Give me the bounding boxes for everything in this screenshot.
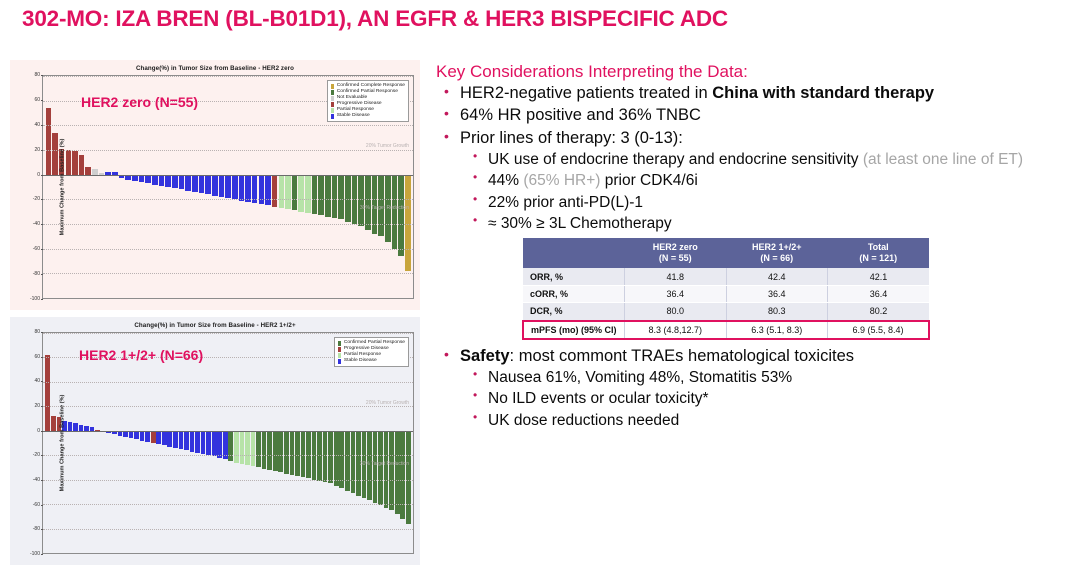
bar-rect — [185, 175, 191, 191]
column-header-line2: (N = 55) — [627, 253, 725, 264]
bar-rect — [217, 431, 222, 458]
gridline — [43, 298, 413, 299]
bar-rect — [389, 431, 394, 510]
waterfall-bar — [52, 76, 59, 298]
column-header-line1: HER2 zero — [627, 242, 725, 253]
legend-label: Partial Response — [344, 352, 381, 358]
chart-her2-low: Change(%) in Tumor Size from Baseline - … — [10, 317, 420, 565]
legend-label: Stable Disease — [344, 358, 377, 364]
gridline — [43, 199, 413, 200]
bar-rect — [405, 175, 411, 271]
table-row: DCR, %80.080.380.2 — [523, 303, 929, 321]
column-header-line1: Total — [830, 242, 928, 253]
column-header-line2: (N = 121) — [830, 253, 928, 264]
bar-rect — [232, 175, 238, 200]
legend-swatch-icon — [338, 347, 341, 353]
waterfall-bar — [291, 76, 298, 298]
bar-rect — [345, 431, 350, 491]
chart-legend: Confirmed Complete ResponseConfirmed Par… — [327, 80, 409, 122]
plot-area-her2-zero: 20% Tumor Growth30% Target Reduction Con… — [42, 75, 414, 299]
table-column-header: HER2 1+/2+(N = 66) — [726, 238, 828, 269]
page-title: 302-MO: IZA BREN (BL-B01D1), AN EGFR & H… — [22, 6, 1062, 32]
legend-swatch-icon — [331, 90, 334, 96]
legend-swatch-icon — [331, 96, 334, 102]
table-cell: 41.8 — [625, 268, 727, 285]
plot-frame: 20% Tumor Growth30% Target Reduction Con… — [42, 75, 414, 299]
bullet-list-bottom: Safety: most commont TRAEs hematological… — [436, 346, 1076, 431]
plot-area-her2-low: 20% Tumor Growth30% Target Reduction Con… — [42, 332, 414, 554]
chart-overlay-label: HER2 zero (N=55) — [81, 94, 198, 110]
bullet-list-top: HER2-negative patients treated in China … — [436, 83, 1076, 234]
table-cell: 80.3 — [726, 303, 828, 321]
waterfall-bar — [225, 76, 232, 298]
bar-rect — [51, 416, 56, 431]
column-header-line2: (N = 66) — [728, 253, 826, 264]
bar-rect — [179, 431, 184, 449]
bar-rect — [279, 175, 285, 208]
legend-swatch-icon — [338, 353, 341, 359]
chart-her2-zero: Change(%) in Tumor Size from Baseline - … — [10, 60, 420, 310]
bar-rect — [199, 175, 205, 193]
bar-rect — [312, 175, 318, 214]
bar-rect — [334, 431, 339, 486]
waterfall-bar — [218, 76, 225, 298]
gridline — [43, 504, 413, 505]
waterfall-bar — [265, 76, 272, 298]
waterfall-bar — [271, 76, 278, 298]
bar-rect — [345, 175, 351, 222]
legend-label: Progressive Disease — [344, 346, 389, 352]
y-axis-tick: -40 — [33, 477, 40, 483]
y-axis-tick: 80 — [34, 329, 40, 335]
bar-rect — [292, 175, 298, 211]
y-axis-tick: 60 — [34, 97, 40, 103]
bar-rect — [134, 431, 139, 440]
y-axis-label: Maximum Change from Baseline (%) — [59, 139, 65, 236]
waterfall-bar — [318, 76, 325, 298]
table-header-row: HER2 zero(N = 55)HER2 1+/2+(N = 66)Total… — [523, 238, 929, 269]
chart-legend: Confirmed Partial ResponseProgressive Di… — [334, 337, 409, 367]
bar-rect — [245, 431, 250, 465]
waterfall-bar — [198, 76, 205, 298]
bullet-text: Nausea 61%, Vomiting 48%, Stomatitis 53% — [488, 369, 792, 386]
bullet-text: (at least one line of ET) — [863, 151, 1023, 168]
y-axis-tick: 40 — [34, 122, 40, 128]
bar-rect — [272, 175, 278, 207]
bar-rect — [278, 431, 283, 473]
bar-rect — [190, 431, 195, 452]
legend-swatch-icon — [331, 102, 334, 108]
legend-label: Stable Disease — [337, 113, 370, 119]
bar-rect — [79, 155, 85, 175]
table-cell: 36.4 — [828, 285, 930, 302]
waterfall-bar — [251, 76, 258, 298]
table-cell: 80.0 — [625, 303, 727, 321]
bar-rect — [267, 431, 272, 470]
legend-label: Confirmed Partial Response — [337, 89, 398, 95]
y-axis-tick: -80 — [33, 271, 40, 277]
y-axis-tick: -60 — [33, 502, 40, 508]
bar-rect — [68, 422, 73, 431]
legend-swatch-icon — [331, 108, 334, 114]
table-body: ORR, %41.842.442.1cORR, %36.436.436.4DCR… — [523, 268, 929, 339]
key-considerations-heading: Key Considerations Interpreting the Data… — [436, 62, 1076, 82]
chart-title: Change(%) in Tumor Size from Baseline - … — [10, 60, 420, 72]
bullet-item: HER2-negative patients treated in China … — [436, 83, 1076, 104]
bullet-text: UK dose reductions needed — [488, 412, 679, 429]
bar-rect — [323, 431, 328, 482]
bullet-item: 64% HR positive and 36% TNBC — [436, 105, 1076, 126]
waterfall-bar — [205, 76, 212, 298]
gridline — [43, 382, 413, 383]
bar-rect — [159, 175, 165, 186]
table-row-label: cORR, % — [523, 285, 625, 302]
bar-rect — [406, 431, 411, 524]
bar-rect — [172, 175, 178, 189]
bar-rect — [358, 175, 364, 227]
y-axis-label: Maximum Change from Baseline (%) — [59, 395, 65, 492]
bar-rect — [66, 150, 72, 175]
bar-rect — [338, 175, 344, 219]
table-cell: 36.4 — [625, 285, 727, 302]
chart-title: Change(%) in Tumor Size from Baseline - … — [10, 317, 420, 329]
bar-rect — [52, 133, 58, 175]
gridline — [43, 406, 413, 407]
bar-rect — [256, 431, 261, 468]
legend-label: Partial Response — [337, 107, 374, 113]
bar-rect — [384, 431, 389, 508]
legend-label: Progressive Disease — [337, 101, 382, 107]
waterfall-bar — [45, 76, 52, 298]
y-axis-tick: 60 — [34, 354, 40, 360]
chart-annotation: 30% Target Reduction — [360, 205, 409, 211]
bar-rect — [139, 175, 145, 182]
y-axis-tick: 0 — [37, 172, 40, 178]
bar-rect — [206, 431, 211, 455]
bullet-item: Safety: most commont TRAEs hematological… — [436, 346, 1076, 367]
y-axis-tick: -40 — [33, 221, 40, 227]
y-axis-tick: -20 — [33, 196, 40, 202]
bar-rect — [184, 431, 189, 451]
bar-rect — [205, 175, 211, 195]
gridline — [43, 480, 413, 481]
legend-entry: Stable Disease — [338, 358, 405, 364]
bar-rect — [162, 431, 167, 446]
table-row: mPFS (mo) (95% CI)8.3 (4.8,12.7)6.3 (5.1… — [523, 321, 929, 339]
y-axis-tick: 0 — [37, 428, 40, 434]
bar-rect — [400, 431, 405, 519]
waterfall-bar — [72, 76, 79, 298]
waterfall-bar — [298, 76, 305, 298]
legend-label: Confirmed Complete Response — [337, 83, 405, 89]
bar-rect — [167, 431, 172, 447]
waterfall-bar — [65, 76, 72, 298]
gridline — [43, 76, 413, 77]
gridline — [43, 224, 413, 225]
bar-rect — [325, 175, 331, 217]
bar-rect — [85, 167, 91, 174]
bar-rect — [173, 431, 178, 448]
bar-rect — [301, 431, 306, 477]
legend-label: Confirmed Partial Response — [344, 340, 405, 346]
bar-rect — [328, 431, 333, 484]
bar-rect — [262, 431, 267, 469]
bar-rect — [285, 175, 291, 210]
bar-rect — [245, 175, 251, 202]
legend-swatch-icon — [331, 84, 334, 90]
bullet-text: No ILD events or ocular toxicity* — [488, 390, 709, 407]
waterfall-bar — [258, 76, 265, 298]
bar-rect — [298, 175, 304, 212]
gridline — [43, 125, 413, 126]
bar-rect — [290, 431, 295, 475]
bar-rect — [201, 431, 206, 454]
bar-rect — [392, 175, 398, 249]
waterfall-bar — [211, 76, 218, 298]
bullet-text: Safety — [460, 347, 510, 365]
chart-annotation: 20% Tumor Growth — [366, 400, 409, 406]
column-header-line1: HER2 1+/2+ — [728, 242, 826, 253]
bar-rect — [145, 175, 151, 184]
bar-rect — [234, 431, 239, 463]
waterfall-bar — [245, 76, 252, 298]
bar-rect — [145, 431, 150, 442]
bullet-text: Prior lines of therapy: 3 (0-13): — [460, 129, 683, 147]
bar-rect — [151, 431, 156, 443]
bar-rect — [239, 175, 245, 201]
bullet-text: ≈ 30% ≥ 3L Chemotherapy — [488, 215, 672, 232]
results-table: HER2 zero(N = 55)HER2 1+/2+(N = 66)Total… — [522, 238, 930, 340]
y-axis-tick: -100 — [30, 551, 40, 557]
gridline — [43, 273, 413, 274]
y-axis-tick: 80 — [34, 72, 40, 78]
gridline — [43, 333, 413, 334]
bar-rect — [398, 175, 404, 256]
y-axis-tick: -20 — [33, 452, 40, 458]
bar-rect — [219, 175, 225, 197]
bullet-text: HER2-negative patients treated in — [460, 84, 712, 102]
bullet-text: : most commont TRAEs hematological toxic… — [510, 347, 855, 365]
bullet-item: UK use of endocrine therapy and endocrin… — [436, 150, 1076, 170]
bar-rect — [228, 431, 233, 462]
table-cell: 6.9 (5.5, 8.4) — [828, 321, 930, 339]
gridline — [43, 553, 413, 554]
table-cell: 8.3 (4.8,12.7) — [625, 321, 727, 339]
legend-swatch-icon — [338, 341, 341, 347]
y-axis-tick: 40 — [34, 378, 40, 384]
bullet-text: 44% — [488, 172, 523, 189]
gridline — [43, 529, 413, 530]
bar-rect — [351, 431, 356, 493]
bar-rect — [225, 175, 231, 198]
table-row-label: mPFS (mo) (95% CI) — [523, 321, 625, 339]
bullet-item: 44% (65% HR+) prior CDK4/6i — [436, 171, 1076, 191]
bullet-item: No ILD events or ocular toxicity* — [436, 389, 1076, 409]
bullet-text: UK use of endocrine therapy and endocrin… — [488, 151, 863, 168]
bullet-text: (65% HR+) — [523, 172, 600, 189]
key-considerations-pane: Key Considerations Interpreting the Data… — [436, 62, 1076, 432]
bullet-item: UK dose reductions needed — [436, 411, 1076, 431]
waterfall-bar — [231, 76, 238, 298]
table-column-header: HER2 zero(N = 55) — [625, 238, 727, 269]
bar-rect — [72, 151, 78, 174]
bar-rect — [284, 431, 289, 474]
bar-rect — [212, 175, 218, 196]
bullet-item: Nausea 61%, Vomiting 48%, Stomatitis 53% — [436, 368, 1076, 388]
bullet-text: prior CDK4/6i — [600, 172, 697, 189]
bar-rect — [332, 175, 338, 218]
bar-rect — [129, 431, 134, 438]
legend-label: Not Evaluable — [337, 95, 367, 101]
bar-rect — [165, 175, 171, 187]
table-column-header: Total(N = 121) — [828, 238, 930, 269]
table-row-label: ORR, % — [523, 268, 625, 285]
table-row-label: DCR, % — [523, 303, 625, 321]
bar-rect — [192, 175, 198, 192]
table-row: ORR, %41.842.442.1 — [523, 268, 929, 285]
bar-rect — [212, 431, 217, 457]
chart-annotation: 30% Target Reduction — [360, 461, 409, 467]
legend-swatch-icon — [331, 114, 334, 120]
bar-rect — [156, 431, 161, 444]
bar-rect — [318, 175, 324, 216]
table-cell: 6.3 (5.1, 8.3) — [726, 321, 828, 339]
bar-rect — [365, 175, 371, 231]
bullet-text: 64% HR positive and 36% TNBC — [460, 106, 701, 124]
bar-rect — [240, 431, 245, 464]
waterfall-bar — [285, 76, 292, 298]
table-cell: 36.4 — [726, 285, 828, 302]
bar-rect — [152, 175, 158, 185]
bullet-item: Prior lines of therapy: 3 (0-13): — [436, 128, 1076, 149]
table-row: cORR, %36.436.436.4 — [523, 285, 929, 302]
bar-rect — [46, 108, 52, 175]
table-cell: 42.1 — [828, 268, 930, 285]
bar-rect — [295, 431, 300, 476]
table-cell: 80.2 — [828, 303, 930, 321]
bar-rect — [73, 423, 78, 430]
bar-rect — [140, 431, 145, 441]
bullet-text: 22% prior anti-PD(L)-1 — [488, 194, 643, 211]
bar-rect — [195, 431, 200, 453]
legend-swatch-icon — [338, 359, 341, 365]
bullet-text: China with standard therapy — [712, 84, 934, 102]
bar-rect — [378, 431, 383, 506]
y-axis-tick: -60 — [33, 246, 40, 252]
plot-frame: 20% Tumor Growth30% Target Reduction Con… — [42, 332, 414, 554]
waterfall-bar — [305, 76, 312, 298]
table-corner-cell — [523, 238, 625, 269]
bar-rect — [251, 431, 256, 466]
bar-rect — [395, 431, 400, 514]
waterfall-bar — [278, 76, 285, 298]
gridline — [43, 249, 413, 250]
gridline — [43, 150, 413, 151]
y-axis-tick: -80 — [33, 526, 40, 532]
waterfall-bar — [311, 76, 318, 298]
legend-entry: Stable Disease — [331, 113, 405, 119]
bar-rect — [45, 355, 50, 431]
bar-rect — [305, 175, 311, 213]
bar-rect — [273, 431, 278, 471]
y-axis-tick: 20 — [34, 147, 40, 153]
y-axis-tick: -100 — [30, 296, 40, 302]
zero-baseline — [43, 431, 413, 432]
table-cell: 42.4 — [726, 268, 828, 285]
gridline — [43, 455, 413, 456]
chart-annotation: 20% Tumor Growth — [366, 143, 409, 149]
zero-baseline — [43, 175, 413, 176]
waterfall-bar — [238, 76, 245, 298]
bar-rect — [265, 175, 271, 206]
chart-overlay-label: HER2 1+/2+ (N=66) — [79, 347, 203, 363]
y-axis-tick: 20 — [34, 403, 40, 409]
bar-rect — [179, 175, 185, 190]
bullet-item: 22% prior anti-PD(L)-1 — [436, 193, 1076, 213]
bullet-item: ≈ 30% ≥ 3L Chemotherapy — [436, 214, 1076, 234]
